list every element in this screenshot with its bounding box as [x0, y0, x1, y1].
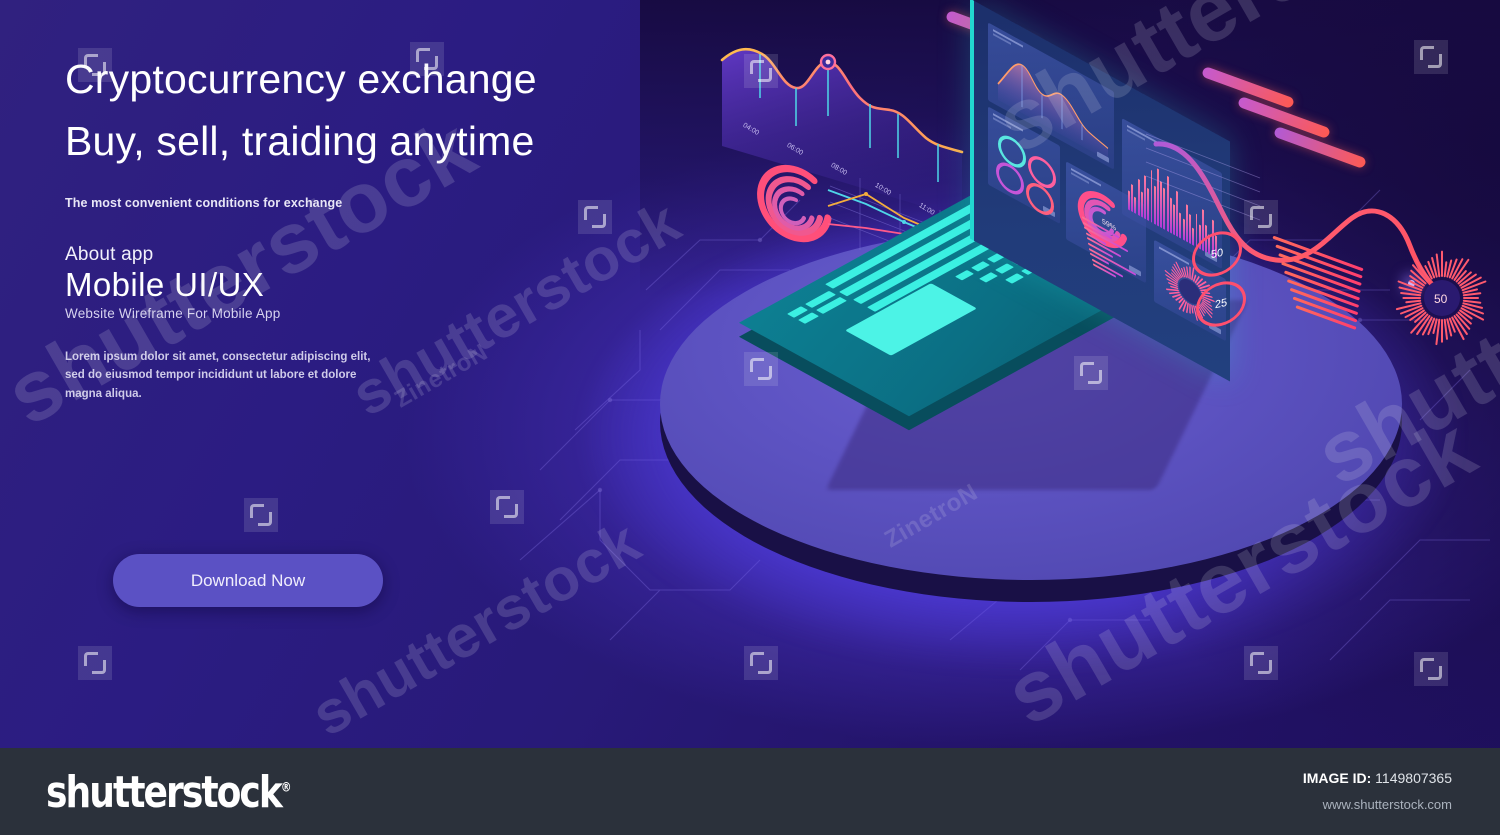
burst-ray	[1437, 255, 1440, 277]
footer-url[interactable]: www.shutterstock.com	[1303, 797, 1452, 812]
hbar-list-bar	[1092, 258, 1123, 277]
image-id-row: IMAGE ID: 1149807365	[1303, 770, 1452, 786]
bar-chart-bar	[1131, 184, 1133, 212]
bar-chart-bar	[1128, 191, 1130, 211]
radial-burst-50: 50	[1372, 228, 1500, 368]
laptop-key	[971, 261, 990, 271]
image-id-value: 1149807365	[1375, 770, 1452, 786]
illustration-canvas: Cryptocurrency exchange Buy, sell, traid…	[0, 0, 1500, 835]
shutterstock-logo-text: shutterstock	[46, 767, 281, 818]
laptop-key	[979, 272, 998, 282]
laptop-key	[995, 263, 1014, 273]
burst-ray	[1445, 262, 1447, 276]
download-now-button[interactable]: Download Now	[113, 554, 383, 607]
burst-ray	[1436, 320, 1439, 344]
isometric-scene: 04:00 06:00 08:00 10:00 11:00 12:00	[520, 0, 1500, 748]
bar-chart-bar	[1134, 197, 1136, 214]
laptop-key	[955, 270, 974, 280]
shutterstock-footer: shutterstock® IMAGE ID: 1149807365 www.s…	[0, 748, 1500, 835]
about-app-body: Lorem ipsum dolor sit amet, consectetur …	[65, 348, 377, 404]
burst-ray	[1464, 301, 1481, 303]
laptop-key	[1005, 273, 1024, 283]
footer-meta: IMAGE ID: 1149807365 www.shutterstock.co…	[1303, 770, 1452, 812]
registered-mark: ®	[281, 780, 292, 795]
burst-ray	[1445, 320, 1447, 339]
laptop-key	[798, 312, 819, 324]
shutterstock-logo: shutterstock®	[46, 767, 292, 818]
radial-center-label: 50	[1434, 292, 1448, 306]
floating-right-panel: 50 25 50	[1140, 80, 1500, 380]
burst-ray	[1464, 293, 1481, 295]
burst-ray	[1401, 293, 1420, 295]
burst-ray	[1406, 301, 1420, 303]
image-id-label: IMAGE ID:	[1303, 770, 1371, 786]
